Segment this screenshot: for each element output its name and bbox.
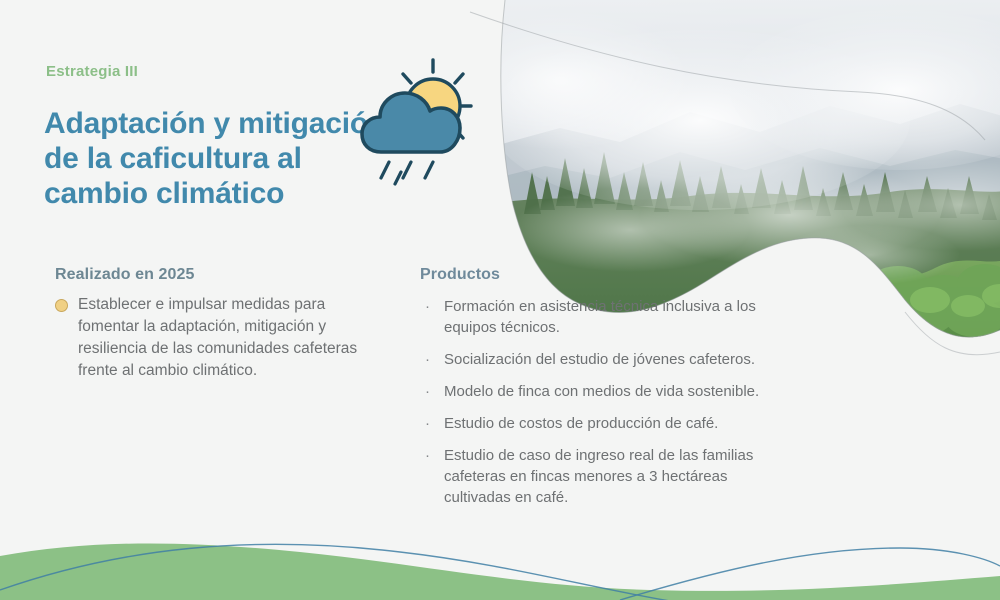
list-item: Establecer e impulsar medidas para fomen… xyxy=(55,294,385,382)
bottom-accent-curve xyxy=(905,312,1000,355)
dot-bullet-icon: · xyxy=(425,349,430,370)
list-item: · Socialización del estudio de jóvenes c… xyxy=(420,349,780,370)
products-list: · Formación en asistencia técnica inclus… xyxy=(420,296,780,508)
list-item: · Formación en asistencia técnica inclus… xyxy=(420,296,780,338)
wave-line-left xyxy=(0,544,760,600)
goal-text: Establecer e impulsar medidas para fomen… xyxy=(78,294,378,382)
list-item: · Estudio de costos de producción de caf… xyxy=(420,413,780,434)
product-text: Estudio de caso de ingreso real de las f… xyxy=(444,447,753,506)
product-text: Formación en asistencia técnica inclusiv… xyxy=(444,298,756,336)
dot-bullet-icon: · xyxy=(425,413,430,434)
page-title: Adaptación y mitigación de la caficultur… xyxy=(44,106,404,211)
dot-bullet-icon: · xyxy=(425,381,430,402)
circle-bullet-icon xyxy=(55,299,68,312)
right-column: Productos · Formación en asistencia técn… xyxy=(420,266,780,519)
wave-line-right xyxy=(620,548,1000,600)
green-wave xyxy=(0,543,1000,600)
list-item: · Estudio de caso de ingreso real de las… xyxy=(420,445,780,508)
product-text: Estudio de costos de producción de café. xyxy=(444,415,718,432)
left-column: Realizado en 2025 Establecer e impulsar … xyxy=(55,266,385,382)
eyebrow-label: Estrategia III xyxy=(46,63,138,80)
dot-bullet-icon: · xyxy=(425,445,430,466)
sun-behind-rain-cloud-icon xyxy=(355,56,475,186)
dot-bullet-icon: · xyxy=(425,296,430,317)
rain-drops xyxy=(381,162,433,184)
right-column-heading: Productos xyxy=(420,266,780,284)
top-accent-curve xyxy=(470,12,985,140)
list-item: · Modelo de finca con medios de vida sos… xyxy=(420,381,780,402)
product-text: Socialización del estudio de jóvenes caf… xyxy=(444,351,755,368)
left-column-heading: Realizado en 2025 xyxy=(55,266,385,284)
product-text: Modelo de finca con medios de vida soste… xyxy=(444,383,759,400)
slide-canvas: Estrategia III Adaptación y mitigación d… xyxy=(0,0,1000,600)
